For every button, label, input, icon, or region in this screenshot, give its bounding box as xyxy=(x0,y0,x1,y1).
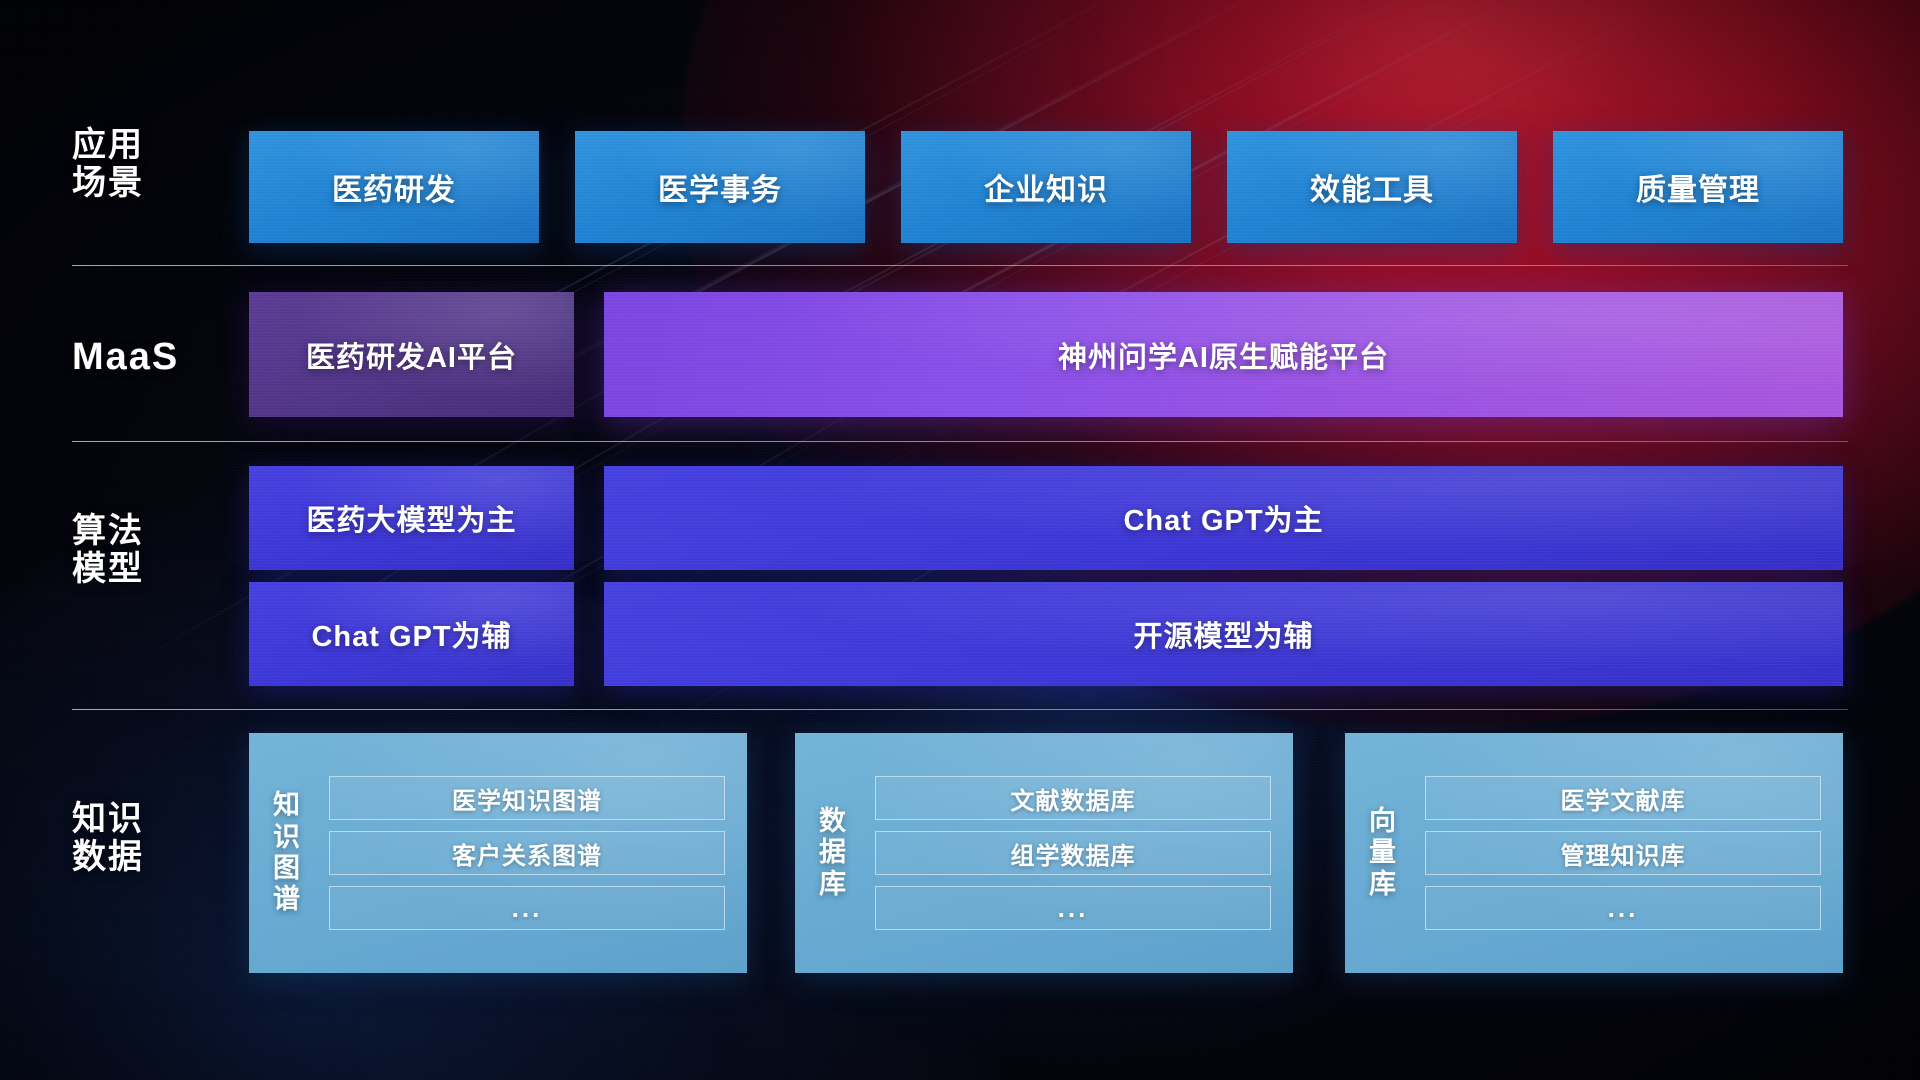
app-box-yixue-shiwu[interactable]: 医学事务 xyxy=(575,131,865,243)
knowledge-item-more[interactable]: ... xyxy=(1425,886,1821,930)
knowledge-panel-title: 向 量 库 xyxy=(1345,806,1421,900)
app-box-zhiliang-guanli[interactable]: 质量管理 xyxy=(1553,131,1843,243)
knowledge-item-list: 医学知识图谱 客户关系图谱 ... xyxy=(325,762,747,944)
app-box-label: 效能工具 xyxy=(1227,131,1517,243)
maas-box-label: 医药研发AI平台 xyxy=(249,292,574,417)
algo-box-row1-left[interactable]: 医药大模型为主 xyxy=(249,466,574,570)
title-char: 向 xyxy=(1369,806,1397,837)
row-label-line: 知识 xyxy=(72,800,222,838)
knowledge-panel-zhishi-tupu[interactable]: 知 识 图 谱 医学知识图谱 客户关系图谱 ... xyxy=(249,733,747,973)
app-box-qiye-zhishi[interactable]: 企业知识 xyxy=(901,131,1191,243)
app-box-xiaoneng-gongju[interactable]: 效能工具 xyxy=(1227,131,1517,243)
algo-box-label: Chat GPT为主 xyxy=(604,466,1843,570)
row-label-line: 应用 xyxy=(72,126,222,164)
maas-box-yiyao-yanfa-ai-pingtai[interactable]: 医药研发AI平台 xyxy=(249,292,574,417)
title-char: 库 xyxy=(819,869,847,900)
row-label-algorithm: 算法 模型 xyxy=(72,512,222,588)
algo-box-label: 医药大模型为主 xyxy=(249,466,574,570)
knowledge-item[interactable]: 管理知识库 xyxy=(1425,831,1821,875)
app-box-label: 医药研发 xyxy=(249,131,539,243)
app-box-label: 质量管理 xyxy=(1553,131,1843,243)
divider-3 xyxy=(72,709,1848,710)
title-char: 数 xyxy=(819,806,847,837)
algo-box-row1-right[interactable]: Chat GPT为主 xyxy=(604,466,1843,570)
row-label-line: MaaS xyxy=(72,336,222,379)
algo-box-row2-right[interactable]: 开源模型为辅 xyxy=(604,582,1843,686)
knowledge-item[interactable]: 文献数据库 xyxy=(875,776,1271,820)
row-label-knowledge: 知识 数据 xyxy=(72,800,222,876)
maas-box-shenzhou-wenxue-platform[interactable]: 神州问学AI原生赋能平台 xyxy=(604,292,1843,417)
row-label-line: 算法 xyxy=(72,512,222,550)
knowledge-item[interactable]: 医学知识图谱 xyxy=(329,776,725,820)
row-label-line: 模型 xyxy=(72,550,222,588)
title-char: 知 xyxy=(273,790,301,821)
knowledge-panel-title: 数 据 库 xyxy=(795,806,871,900)
knowledge-panel-shujuku[interactable]: 数 据 库 文献数据库 组学数据库 ... xyxy=(795,733,1293,973)
divider-1 xyxy=(72,265,1848,266)
knowledge-item-list: 医学文献库 管理知识库 ... xyxy=(1421,762,1843,944)
row-label-line: 场景 xyxy=(72,164,222,202)
algo-box-label: Chat GPT为辅 xyxy=(249,582,574,686)
title-char: 识 xyxy=(273,822,301,853)
maas-box-label: 神州问学AI原生赋能平台 xyxy=(604,292,1843,417)
knowledge-item-list: 文献数据库 组学数据库 ... xyxy=(871,762,1293,944)
knowledge-item-more[interactable]: ... xyxy=(875,886,1271,930)
knowledge-item[interactable]: 客户关系图谱 xyxy=(329,831,725,875)
knowledge-panel-title: 知 识 图 谱 xyxy=(249,790,325,915)
algo-box-label: 开源模型为辅 xyxy=(604,582,1843,686)
title-char: 图 xyxy=(273,853,301,884)
app-box-label: 医学事务 xyxy=(575,131,865,243)
row-label-application: 应用 场景 xyxy=(72,126,222,202)
title-char: 库 xyxy=(1369,869,1397,900)
knowledge-item[interactable]: 医学文献库 xyxy=(1425,776,1821,820)
algo-box-row2-left[interactable]: Chat GPT为辅 xyxy=(249,582,574,686)
row-label-maas: MaaS xyxy=(72,336,222,379)
knowledge-panel-xiangliangku[interactable]: 向 量 库 医学文献库 管理知识库 ... xyxy=(1345,733,1843,973)
row-label-line: 数据 xyxy=(72,838,222,876)
title-char: 量 xyxy=(1369,837,1397,868)
title-char: 谱 xyxy=(273,884,301,915)
app-box-yiyao-yanfa[interactable]: 医药研发 xyxy=(249,131,539,243)
architecture-diagram: 应用 场景 医药研发 医学事务 企业知识 效能工具 质量管理 MaaS 医药研发… xyxy=(0,0,1920,1080)
divider-2 xyxy=(72,441,1848,442)
knowledge-item-more[interactable]: ... xyxy=(329,886,725,930)
app-box-label: 企业知识 xyxy=(901,131,1191,243)
knowledge-item[interactable]: 组学数据库 xyxy=(875,831,1271,875)
title-char: 据 xyxy=(819,837,847,868)
